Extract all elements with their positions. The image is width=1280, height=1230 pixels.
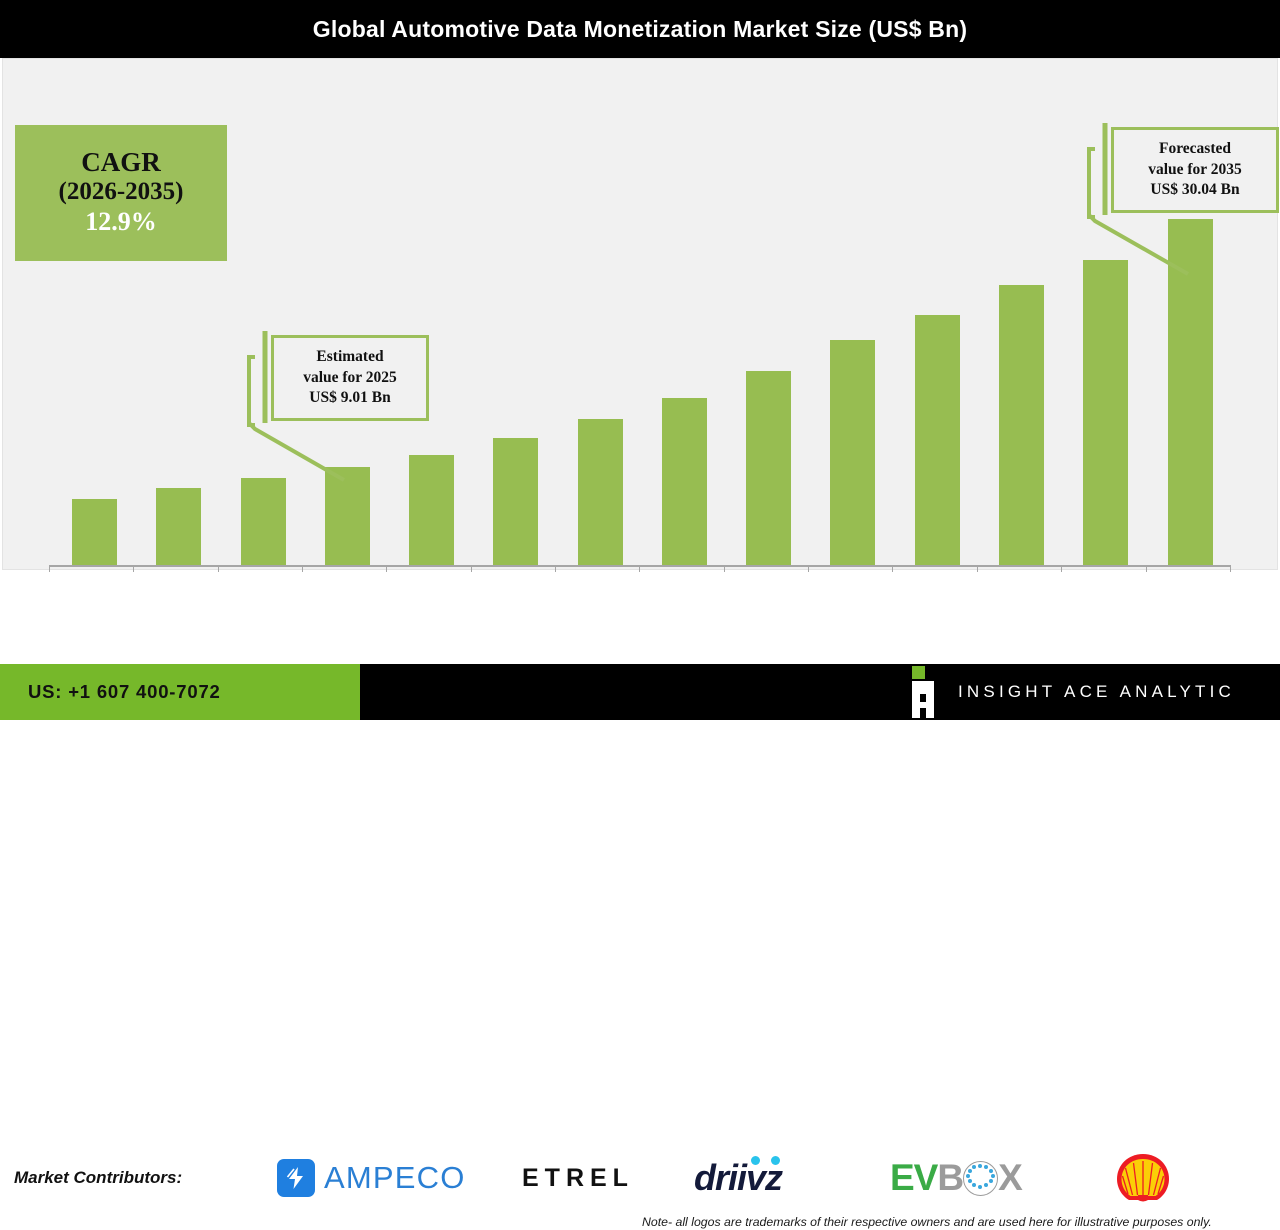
shell-pecten-icon [1114, 1152, 1172, 1204]
x-axis-line [49, 565, 1231, 567]
insight-ace-a-logo-icon [898, 664, 938, 720]
bar-2024 [241, 478, 286, 565]
bar-2027 [493, 438, 538, 565]
cagr-box: CAGR (2026-2035) 12.9% [15, 125, 227, 261]
driivz-wordmark-wrap: driivz [694, 1157, 782, 1199]
brand-name: INSIGHT ACE ANALYTIC [958, 682, 1235, 702]
logo-driivz: driivz [694, 1152, 782, 1204]
chart-panel: 2022 (A) 2023 (A) 2024 (A) 2025 (E) 2026… [2, 58, 1278, 570]
bar-2028 [578, 419, 623, 565]
cagr-title: CAGR [81, 148, 161, 177]
cagr-value: 12.9% [85, 207, 157, 238]
bar-2022 [72, 499, 117, 565]
bar-2035 [1168, 219, 1213, 565]
title-bar: Global Automotive Data Monetization Mark… [0, 0, 1280, 58]
callout-forecasted-2035: Forecasted value for 2035 US$ 30.04 Bn [1111, 127, 1279, 213]
ampeco-bolt-icon [277, 1159, 315, 1197]
callout-estimated-line3: US$ 9.01 Bn [309, 388, 390, 409]
bar-2033 [999, 285, 1044, 565]
market-contributors-strip: Market Contributors: AMPECO ETREL driivz… [0, 572, 1280, 664]
cagr-period: (2026-2035) [59, 177, 184, 207]
evbox-ev-text: EV [890, 1157, 937, 1199]
evbox-b-text: B [937, 1157, 963, 1199]
page-title: Global Automotive Data Monetization Mark… [313, 16, 967, 43]
evbox-dotted-o-icon [963, 1161, 998, 1196]
driivz-dot-icon [751, 1156, 760, 1165]
callout-forecasted-line1: Forecasted [1159, 139, 1231, 160]
evbox-x-text: X [998, 1157, 1022, 1199]
callout-forecasted-line3: US$ 30.04 Bn [1150, 180, 1239, 201]
callout-forecasted-line2: value for 2035 [1148, 160, 1242, 181]
bar-2032 [915, 315, 960, 565]
footer-bar: US: +1 607 400-7072 INSIGHT ACE ANALYTIC [0, 664, 1280, 720]
logo-etrel: ETREL [522, 1152, 634, 1204]
callout-estimated-line1: Estimated [316, 347, 383, 368]
bar-2030 [746, 371, 791, 565]
bar-2034 [1083, 260, 1128, 565]
driivz-dot-icon [771, 1156, 780, 1165]
callout-estimated-line2: value for 2025 [303, 368, 397, 389]
driivz-wordmark: driivz [694, 1157, 782, 1198]
callout-estimated-2025: Estimated value for 2025 US$ 9.01 Bn [271, 335, 429, 421]
bar-2029 [662, 398, 707, 565]
logo-shell [1114, 1152, 1172, 1204]
logo-evbox: EVB X [890, 1152, 1022, 1204]
market-contributors-label: Market Contributors: [14, 1168, 182, 1188]
bar-2026 [409, 455, 454, 565]
logo-ampeco: AMPECO [277, 1152, 466, 1204]
etrel-wordmark: ETREL [522, 1164, 634, 1193]
brand-lockup: INSIGHT ACE ANALYTIC [898, 664, 1235, 720]
bar-2031 [830, 340, 875, 565]
bar-2023 [156, 488, 201, 565]
logos-note-text: Note- all logos are trademarks of their … [642, 1215, 1278, 1230]
footer-phone-number: US: +1 607 400-7072 [28, 664, 221, 720]
bar-2025 [325, 467, 370, 565]
ampeco-wordmark: AMPECO [324, 1160, 466, 1196]
